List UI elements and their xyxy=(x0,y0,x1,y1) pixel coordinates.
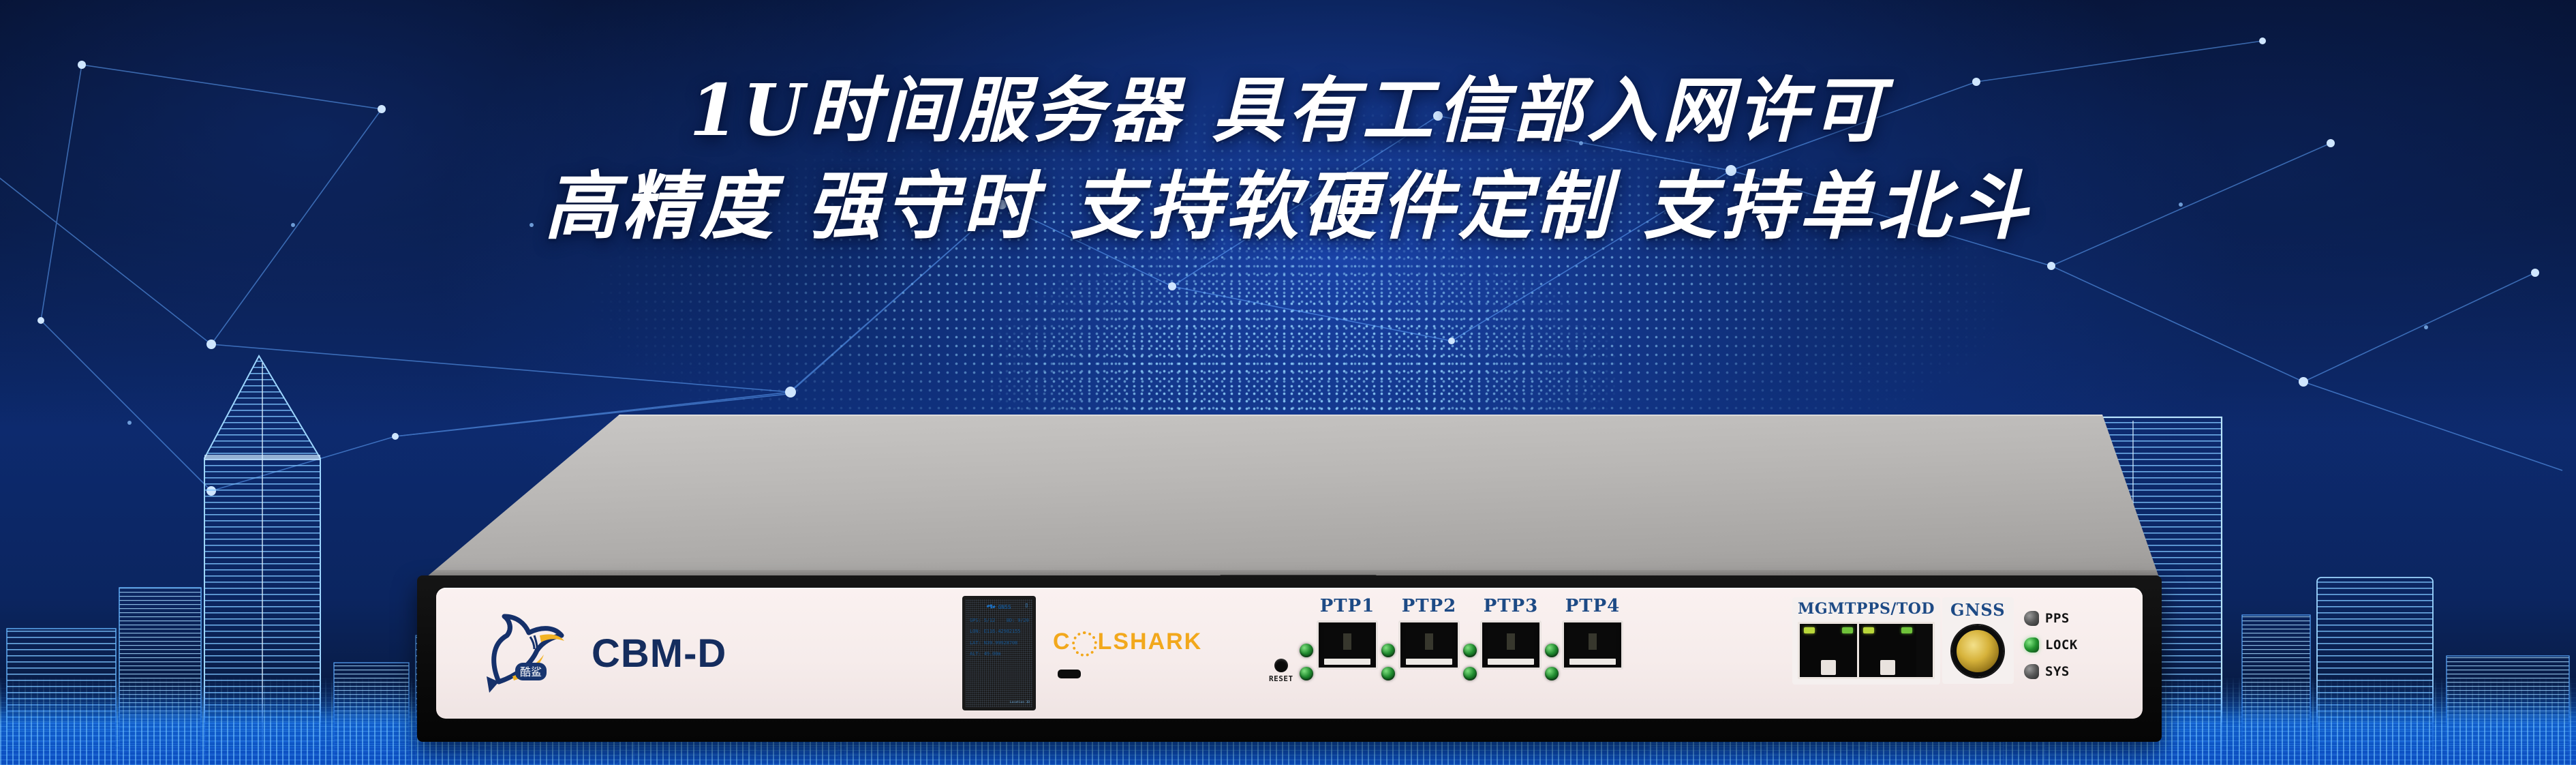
rj45-port-mgmt[interactable] xyxy=(1800,624,1859,677)
usb-port[interactable] xyxy=(1058,670,1081,678)
sfp-cage-2[interactable] xyxy=(1398,620,1460,670)
led-indicator-icon xyxy=(1545,644,1559,657)
led-indicator-icon xyxy=(1463,667,1477,680)
status-sys-label: SYS xyxy=(2045,664,2070,679)
status-pps-label: PPS xyxy=(2045,611,2070,626)
status-led-pps: PPS xyxy=(2024,611,2078,626)
lcd-altitude-row: ALT: 49.00m xyxy=(970,650,1028,657)
lcd-title: GNSS xyxy=(998,604,1011,610)
led-indicator-icon xyxy=(1463,644,1477,657)
led-indicator-icon xyxy=(1545,667,1559,680)
satellite-icon xyxy=(987,603,996,612)
lcd-alt-label: ALT: xyxy=(970,650,981,657)
ptp-port-1[interactable]: PTP1 xyxy=(1296,596,1378,680)
wordmark-suffix: LSHARK xyxy=(1098,629,1203,655)
device-model-name: CBM-D xyxy=(592,631,726,676)
shark-logo-icon: 酷鲨 xyxy=(472,605,574,701)
lcd-latitude-row: LAT: N39.99928708 xyxy=(970,640,1028,646)
ptp2-label: PTP2 xyxy=(1398,596,1460,616)
brand-block: 酷鲨 CBM-D xyxy=(472,600,726,706)
lcd-footer-status: Location 3D xyxy=(1010,701,1030,704)
rj45-port-pps-tod[interactable] xyxy=(1859,624,1916,677)
led-indicator-icon xyxy=(1300,644,1313,657)
status-lock-label: LOCK xyxy=(2045,637,2078,652)
mgmt-label: MGMT xyxy=(1798,600,1856,618)
reset-pinhole-icon xyxy=(1274,659,1288,672)
led-indicator-icon xyxy=(1300,667,1313,680)
led-indicator-icon xyxy=(1381,644,1395,657)
ptp-port-4[interactable]: PTP4 xyxy=(1542,596,1623,680)
lcd-alt-value: 49.00m xyxy=(984,650,1001,657)
ptp2-leds xyxy=(1381,644,1395,680)
gnss-antenna-block: GNSS xyxy=(1942,597,2014,684)
dotted-circle-o-icon xyxy=(1072,631,1097,657)
lcd-bd-label: BD: xyxy=(1007,617,1015,623)
pps-tod-label: PPS/TOD xyxy=(1856,600,1935,618)
ptp3-leds xyxy=(1463,644,1477,680)
reset-label: RESET xyxy=(1269,674,1293,683)
sfp-cage-4[interactable] xyxy=(1562,620,1623,670)
device-chassis-top xyxy=(417,415,2162,585)
ptp3-label: PTP3 xyxy=(1480,596,1542,616)
ptp-port-group: PTP1 PTP2 xyxy=(1296,596,1623,680)
sfp-cage-3[interactable] xyxy=(1480,620,1542,670)
status-led-sys: SYS xyxy=(2024,664,2078,679)
led-sys-icon xyxy=(2024,664,2039,679)
banner-stage: 1U时间服务器 具有工信部入网许可 高精度 强守时 支持软硬件定制 支持单北斗 xyxy=(0,0,2576,765)
led-lock-icon xyxy=(2024,637,2039,652)
lcd-lon-label: LON: xyxy=(970,628,981,634)
sma-connector[interactable] xyxy=(1952,625,2004,677)
status-led-group: PPS LOCK SYS xyxy=(2024,611,2078,679)
lcd-satellite-counts: GPS: 5/12 BD: 9/20 xyxy=(970,617,1028,623)
led-indicator-icon xyxy=(1381,667,1395,680)
lcd-display[interactable]: GNSS ▯ GPS: 5/12 BD: 9/20 LON: E1 xyxy=(962,596,1036,710)
gnss-label: GNSS xyxy=(1950,600,2006,620)
ptp1-label: PTP1 xyxy=(1317,596,1378,616)
front-panel: 酷鲨 CBM-D xyxy=(436,588,2143,719)
rj45-port-block: MGMT PPS/TOD xyxy=(1792,597,1940,685)
lcd-longitude-row: LON: E116.42982155 xyxy=(970,628,1028,634)
lcd-lon-value: E116.42982155 xyxy=(984,628,1021,634)
device-front-bezel: 酷鲨 CBM-D xyxy=(417,575,2162,742)
lcd-lat-value: N39.99928708 xyxy=(984,640,1018,646)
led-pps-icon xyxy=(2024,611,2039,626)
wordmark-prefix: C xyxy=(1053,629,1071,655)
ptp4-label: PTP4 xyxy=(1562,596,1623,616)
lcd-gps-value: 5/12 xyxy=(984,617,996,623)
reset-button[interactable]: RESET xyxy=(1269,659,1293,683)
time-server-device: 酷鲨 CBM-D xyxy=(417,415,2162,742)
battery-icon: ▯ xyxy=(1025,602,1028,609)
ptp-port-2[interactable]: PTP2 xyxy=(1378,596,1460,680)
coolshark-wordmark: C LSHARK xyxy=(1053,629,1202,655)
ptp1-leds xyxy=(1300,644,1313,680)
svg-text:酷鲨: 酷鲨 xyxy=(520,665,542,678)
lcd-bd-value: 9/20 xyxy=(1017,617,1029,623)
ptp4-leds xyxy=(1545,644,1559,680)
lcd-gps-label: GPS: xyxy=(970,617,981,623)
sfp-cage-1[interactable] xyxy=(1317,620,1378,670)
ptp-port-3[interactable]: PTP3 xyxy=(1460,596,1542,680)
lcd-lat-label: LAT: xyxy=(970,640,981,646)
status-led-lock: LOCK xyxy=(2024,637,2078,652)
